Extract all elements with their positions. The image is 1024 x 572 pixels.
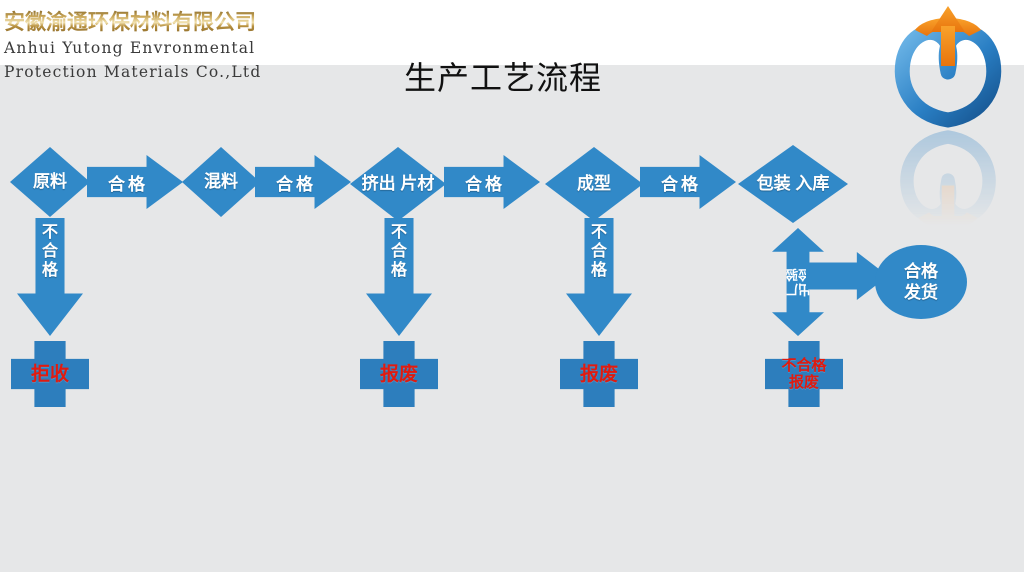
flow-arrow-fail-3-label: 不 合 格 [591, 223, 607, 280]
flow-arrow-fail-1[interactable]: 不 合 格 [17, 218, 83, 336]
flow-arrow-pass-4-label: 合格 [661, 170, 701, 195]
flow-outcome-scrap-1[interactable]: 报废 [360, 341, 438, 407]
flow-outcome-reject-label: 拒收 [31, 364, 69, 385]
flow-outcome-reject[interactable]: 拒收 [11, 341, 89, 407]
slide-canvas: 安徽渝通环保材料有限公司 Anhui Yutong Envronmental P… [0, 0, 1024, 572]
company-name-en-line2: Protection Materials Co.,Ltd [4, 60, 354, 84]
page-title: 生产工艺流程 [404, 53, 602, 99]
company-logo-block: 安徽渝通环保材料有限公司 Anhui Yutong Envronmental P… [4, 10, 354, 120]
flow-node-packaging-storage[interactable]: 包装 入库 [738, 145, 848, 223]
flow-node-packaging-storage-label: 包装 入库 [757, 174, 830, 194]
flow-node-extruded-sheet-label: 挤出 片材 [362, 174, 435, 194]
flow-outcome-scrap-unqualified-label: 不合格 报废 [781, 357, 826, 391]
flow-node-extruded-sheet[interactable]: 挤出 片材 [350, 147, 446, 221]
company-name-en-line1: Anhui Yutong Envronmental [4, 36, 354, 60]
flow-outcome-scrap-2[interactable]: 报废 [560, 341, 638, 407]
flow-arrow-fail-3[interactable]: 不 合 格 [566, 218, 632, 336]
flow-arrow-pass-4[interactable]: 合格 [640, 155, 736, 209]
company-name-cn: 安徽渝通环保材料有限公司 [4, 10, 354, 36]
flow-outcome-scrap-2-label: 报废 [580, 364, 618, 385]
flow-node-forming[interactable]: 成型 [545, 147, 643, 221]
flow-arrow-pass-2-label: 合格 [276, 170, 316, 195]
butterfly-leaf-logo-reflection-icon [893, 128, 1003, 243]
flow-node-qualified-shipment-label: 合格 发货 [904, 261, 938, 303]
flow-arrow-fail-2[interactable]: 不 合 格 [366, 218, 432, 336]
flow-arrow-pass-3-label: 合格 [465, 170, 505, 195]
flow-node-raw-material-label: 原料 [33, 172, 67, 192]
flow-node-forming-label: 成型 [577, 174, 611, 194]
flow-node-qualified-shipment[interactable]: 合格 发货 [875, 245, 967, 319]
flow-arrow-fail-2-label: 不 合 格 [391, 223, 407, 280]
flow-arrow-pass-1-label: 合格 [108, 170, 148, 195]
flow-arrow-pass-3[interactable]: 合格 [444, 155, 540, 209]
flow-arrow-fail-1-label: 不 合 格 [42, 223, 58, 280]
flow-node-mixing-label: 混料 [204, 172, 238, 192]
butterfly-leaf-logo-icon [893, 2, 1003, 130]
flow-outcome-scrap-unqualified[interactable]: 不合格 报废 [765, 341, 843, 407]
flow-outcome-scrap-1-label: 报废 [380, 364, 418, 385]
